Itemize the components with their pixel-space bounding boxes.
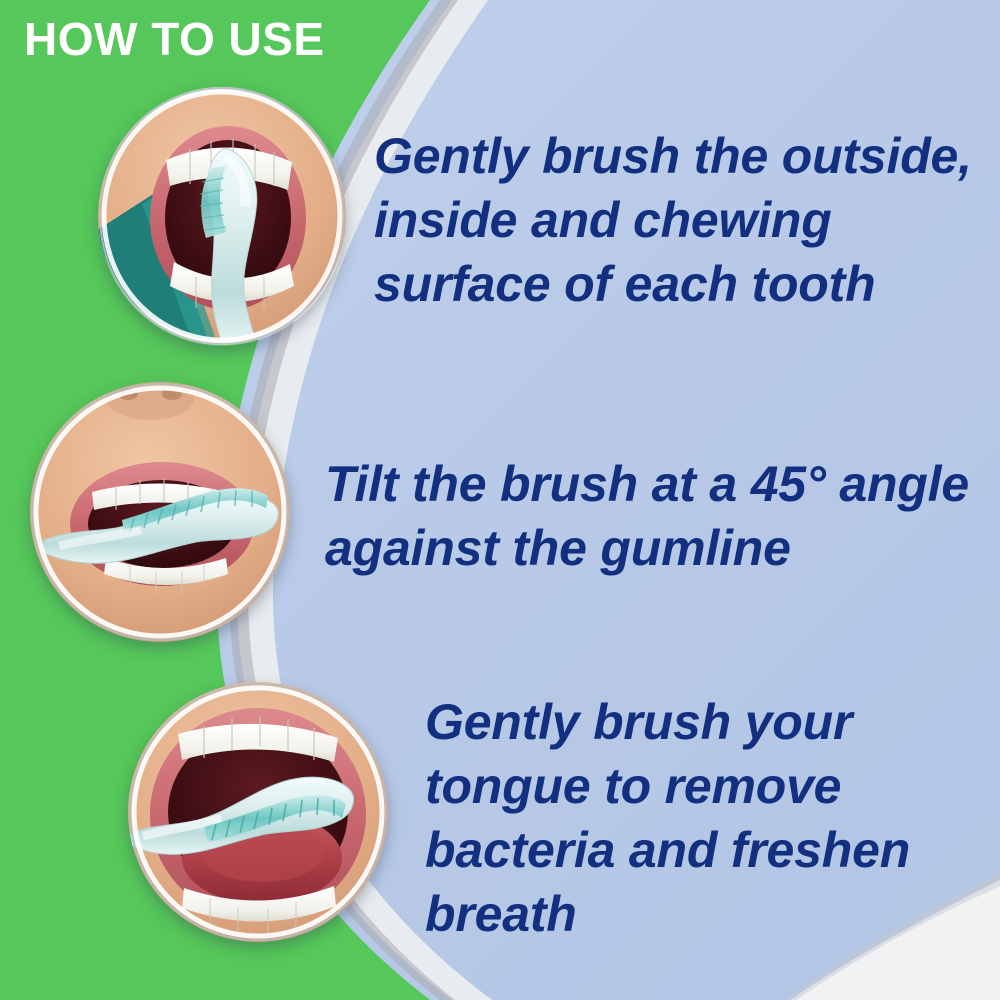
step-2-illustration <box>30 382 290 642</box>
step-3-instruction-text: Gently brush your tongue to remove bacte… <box>425 690 985 946</box>
page-title: HOW TO USE <box>24 14 325 64</box>
step-1-instruction-text: Gently brush the outside, inside and che… <box>374 124 974 316</box>
step-3-photo-circle <box>128 682 388 942</box>
step-2-instruction-text: Tilt the brush at a 45° angle against th… <box>325 452 990 580</box>
step-3-illustration <box>128 682 388 942</box>
step-1-photo-circle <box>98 86 346 346</box>
step-1-illustration <box>98 86 346 346</box>
how-to-use-infographic: HOW TO USE <box>0 0 1000 1000</box>
step-2-photo-circle <box>30 382 290 642</box>
